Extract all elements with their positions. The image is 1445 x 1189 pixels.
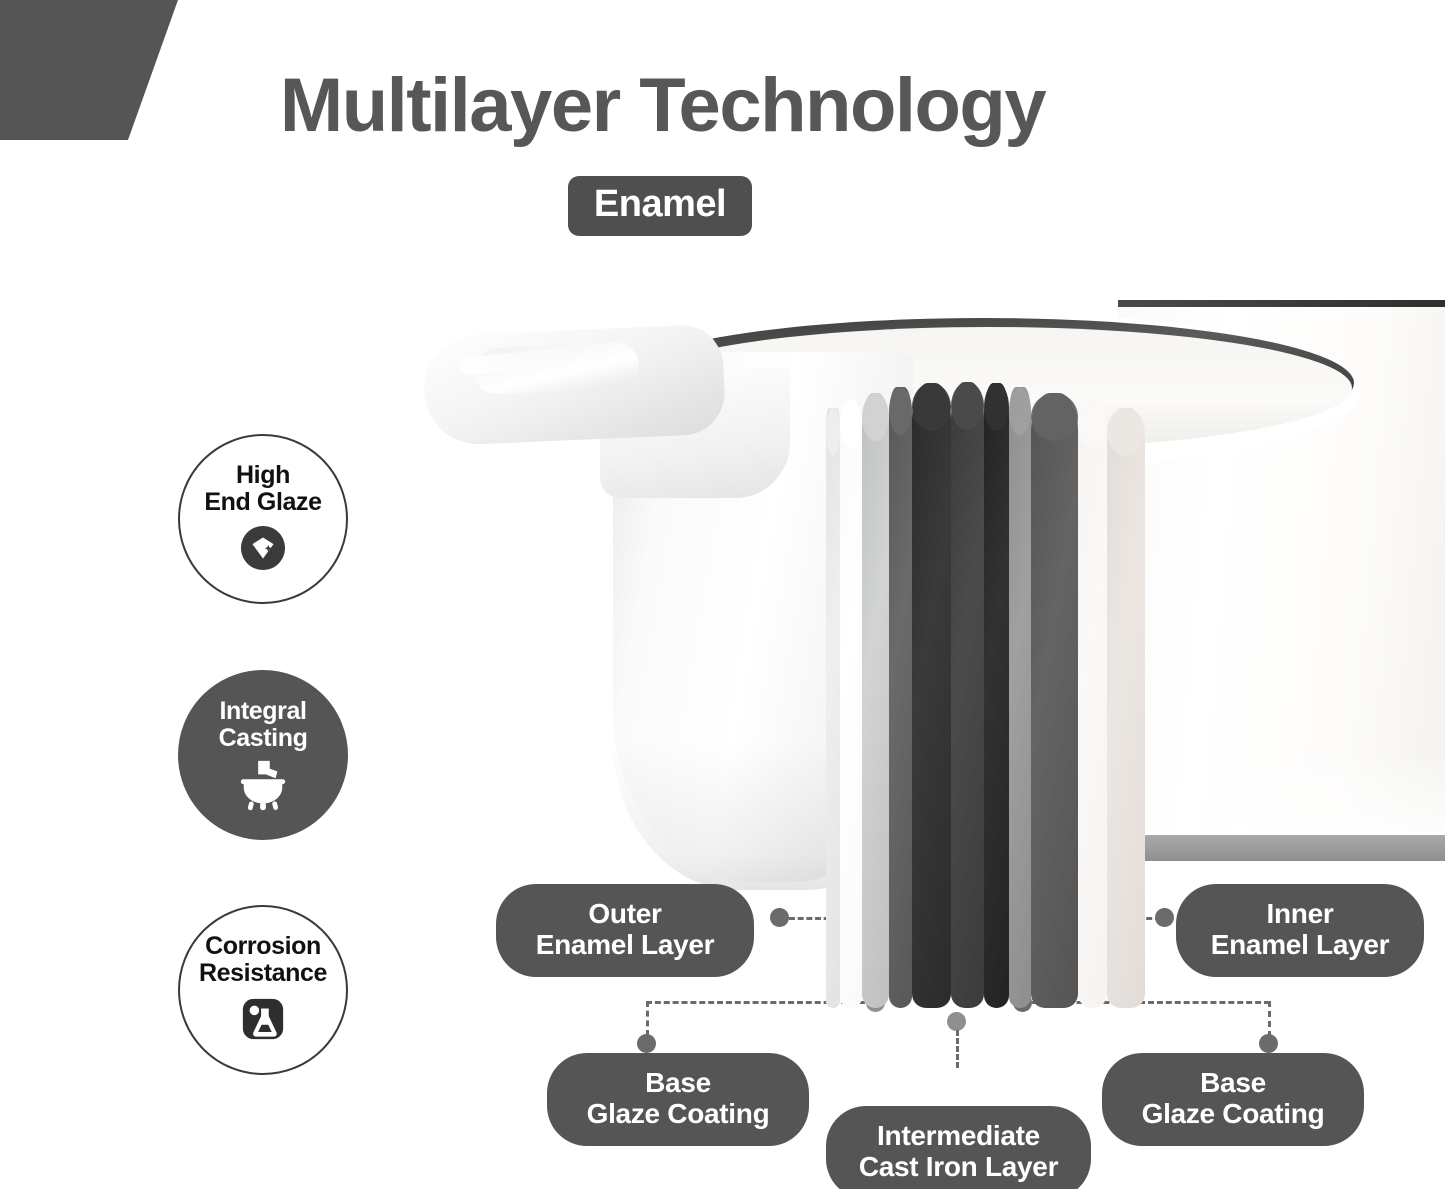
layer-strip-inner-dark-gray [1031,393,1078,1008]
layer-strip-base-glaze-coating-inner [1009,387,1031,1008]
layer-strip-intermediate-cast-iron-layer [984,383,1009,1008]
flask-icon [240,996,286,1042]
leader-dot [637,1034,656,1053]
callout-intermediate-cast-iron-layer[interactable]: Intermediate Cast Iron Layer [826,1106,1091,1189]
layer-top-cap [912,383,951,431]
layer-face [984,383,1009,1008]
callout-inner-enamel-layer[interactable]: Inner Enamel Layer [1176,884,1424,977]
layer-strip-outer-enamel-highlight [840,400,862,1008]
feature-label: High End Glaze [204,462,321,516]
pot-inner-base-shelf [1128,835,1445,861]
callout-base-glaze-coating-left[interactable]: Base Glaze Coating [547,1053,809,1146]
layer-face [1031,393,1078,1008]
leader-dot [1259,1034,1278,1053]
layer-strip-base-glaze-coating-outer [862,393,889,1008]
leader-line [1268,1001,1271,1037]
layer-face [862,393,889,1008]
layer-strip-mid-dark-gray [889,387,912,1008]
page-title: Multilayer Technology [0,68,1325,144]
layer-strip-cast-iron-core [951,382,984,1008]
layer-top-cap [984,383,1009,431]
layer-top-cap [1107,408,1145,456]
leader-line [956,1030,959,1068]
layer-top-cap [840,400,862,448]
feature-label: Corrosion Resistance [199,933,327,987]
callout-base-glaze-coating-right[interactable]: Base Glaze Coating [1102,1053,1364,1146]
layer-face [912,383,951,1008]
leader-dot [1155,908,1174,927]
layer-strip-outer-enamel-layer [826,408,840,1008]
feature-badge-integral-casting[interactable]: Integral Casting [178,670,348,840]
callout-outer-enamel-layer[interactable]: Outer Enamel Layer [496,884,754,977]
gem-icon [240,525,286,571]
layer-face [1078,400,1107,1008]
layer-face [1009,387,1031,1008]
layer-face [951,382,984,1008]
layer-face [889,387,912,1008]
layer-top-cap [1078,400,1107,448]
leader-line [646,1001,649,1036]
pot-inner-gloss [1180,760,1445,840]
casting-ladle-icon [234,759,292,813]
layer-top-cap [1009,387,1031,435]
layer-face [1107,408,1145,1008]
feature-label: Integral Casting [219,698,308,752]
subtitle-container: Enamel [0,176,1320,236]
layer-top-cap [826,408,840,456]
layer-top-cap [1031,393,1078,441]
layer-top-cap [889,387,912,435]
layer-top-cap [862,393,889,441]
layer-face [826,408,840,1008]
layer-strip-inner-enamel-highlight [1078,400,1107,1008]
layer-strip-inner-enamel-layer [1107,408,1145,1008]
feature-badge-corrosion-resistance[interactable]: Corrosion Resistance [178,905,348,1075]
leader-dot [770,908,789,927]
leader-dot [947,1012,966,1031]
subtitle-badge: Enamel [568,176,752,236]
infographic-canvas: Multilayer Technology Enamel High End Gl… [0,0,1445,1189]
layer-strip-cast-iron-dark [912,383,951,1008]
layer-top-cap [951,382,984,430]
pot-inner-rim-edge [1118,300,1445,307]
layer-face [840,400,862,1008]
feature-badge-high-end-glaze[interactable]: High End Glaze [178,434,348,604]
